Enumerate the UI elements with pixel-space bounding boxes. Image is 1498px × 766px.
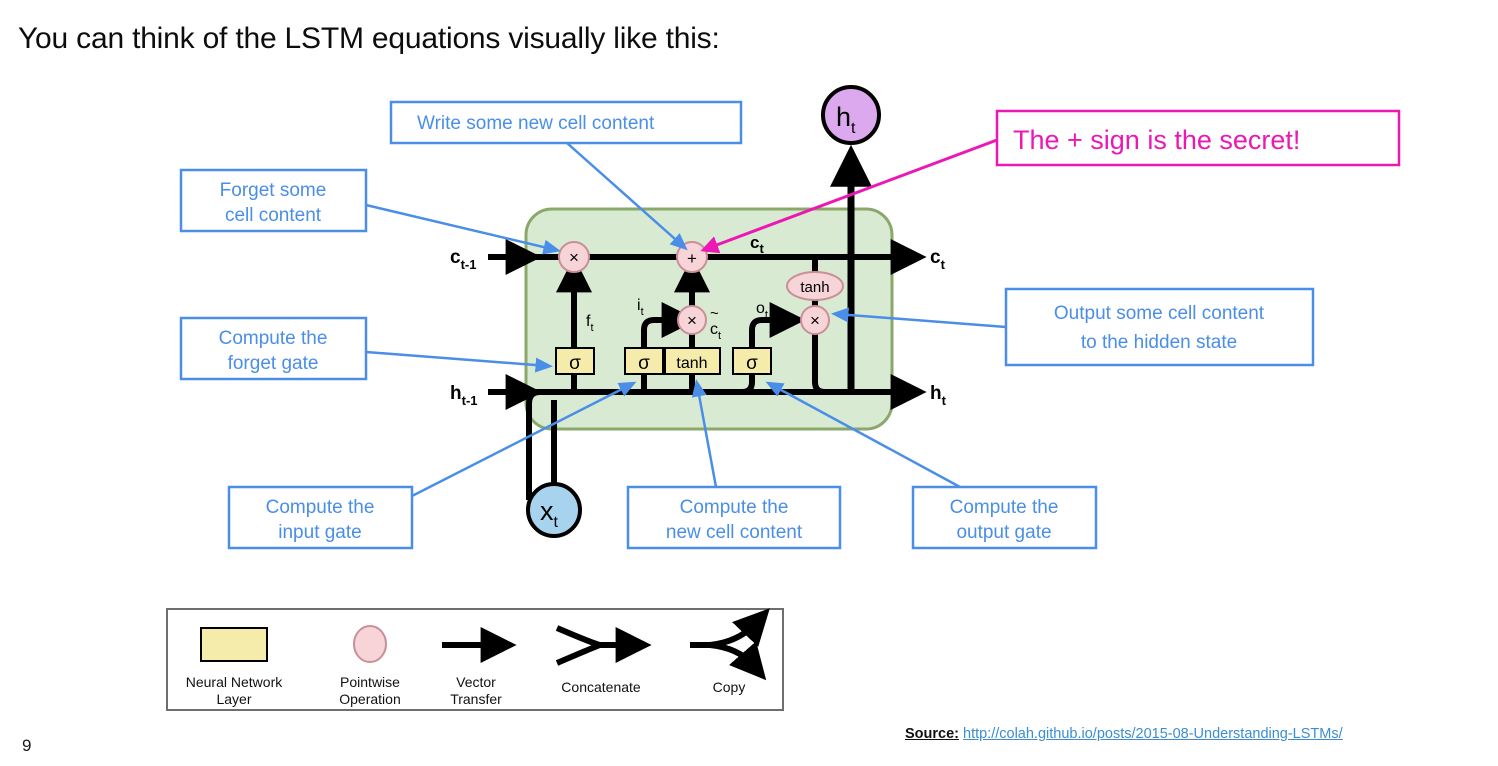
input-sigmoid-label: σ <box>638 353 650 374</box>
input-x-node: xt <box>528 484 580 536</box>
legend-label-pointwise-line2: Operation <box>339 691 400 707</box>
candidate-tanh-label: tanh <box>676 355 707 372</box>
input-multiply-label: × <box>687 311 697 330</box>
output-multiply-label: × <box>810 311 820 330</box>
neural-network-layer-icon <box>201 628 267 661</box>
candidate-tilde-mark: ~ <box>710 305 719 322</box>
nn-layer-forget-sigmoid: σ <box>556 348 594 374</box>
pointwise-operation-icon <box>354 626 386 662</box>
nn-layer-output-sigmoid: σ <box>733 348 771 374</box>
hidden-output-node: ht <box>823 87 879 143</box>
callout-compute-new-cell-content-line1: Compute the <box>680 497 789 518</box>
legend-label-vector-line2: Transfer <box>450 691 502 707</box>
input-hidden-state-label: ht-1 <box>450 383 478 408</box>
pointwise-op-forget-multiply: × <box>559 242 589 272</box>
legend-label-nn-line1: Neural Network <box>186 674 283 690</box>
legend: Neural Network Layer Pointwise Operation… <box>167 609 783 710</box>
legend-label-vector-line1: Vector <box>456 674 496 690</box>
callout-compute-output-gate-line2: output gate <box>956 522 1051 543</box>
callout-forget-cell-content-line2: cell content <box>225 205 322 226</box>
forget-sigmoid-label: σ <box>569 353 581 374</box>
lstm-diagram: × + × × tanh σ σ tanh <box>0 0 1498 766</box>
legend-label-copy: Copy <box>713 679 746 695</box>
pointwise-op-output-tanh: tanh <box>787 272 843 300</box>
callout-compute-forget-gate-line2: forget gate <box>228 353 319 374</box>
nn-layer-input-sigmoid: σ <box>625 348 663 374</box>
legend-label-pointwise-line1: Pointwise <box>340 674 400 690</box>
callout-compute-forget-gate[interactable]: Compute the forget gate <box>181 318 548 379</box>
callout-compute-new-cell-content-line2: new cell content <box>666 522 803 543</box>
callout-plus-sign-secret-label: The + sign is the secret! <box>1013 125 1300 155</box>
output-sigmoid-label: σ <box>746 353 758 374</box>
legend-label-nn-line2: Layer <box>216 691 251 707</box>
nn-layer-candidate-tanh: tanh <box>665 348 720 374</box>
output-cell-state-label: ct <box>930 247 946 272</box>
callout-compute-input-gate-line2: input gate <box>278 522 361 543</box>
callout-output-cell-content-line2: to the hidden state <box>1081 332 1237 353</box>
output-hidden-state-label: ht <box>930 383 947 408</box>
cell-add-label: + <box>687 249 697 268</box>
callout-output-cell-content-line1: Output some cell content <box>1054 303 1265 324</box>
callout-forget-cell-content-line1: Forget some <box>220 180 327 201</box>
forget-multiply-label: × <box>569 248 579 267</box>
pointwise-op-cell-add: + <box>677 242 707 272</box>
slide-root: You can think of the LSTM equations visu… <box>0 0 1498 766</box>
input-cell-state-label: ct-1 <box>450 247 476 272</box>
callout-output-cell-content[interactable]: Output some cell content to the hidden s… <box>836 289 1313 365</box>
callout-compute-output-gate-line1: Compute the <box>950 497 1059 518</box>
callout-compute-forget-gate-line1: Compute the <box>219 328 328 349</box>
output-tanh-label: tanh <box>800 279 829 296</box>
legend-label-concatenate: Concatenate <box>561 679 641 695</box>
lstm-cell-body <box>526 209 892 429</box>
callout-forget-cell-content[interactable]: Forget some cell content <box>181 170 556 250</box>
callout-compute-input-gate-line1: Compute the <box>266 497 375 518</box>
callout-write-new-cell-content-label: Write some new cell content <box>417 113 655 134</box>
pointwise-op-input-multiply: × <box>678 306 706 334</box>
pointwise-op-output-multiply: × <box>801 306 829 334</box>
